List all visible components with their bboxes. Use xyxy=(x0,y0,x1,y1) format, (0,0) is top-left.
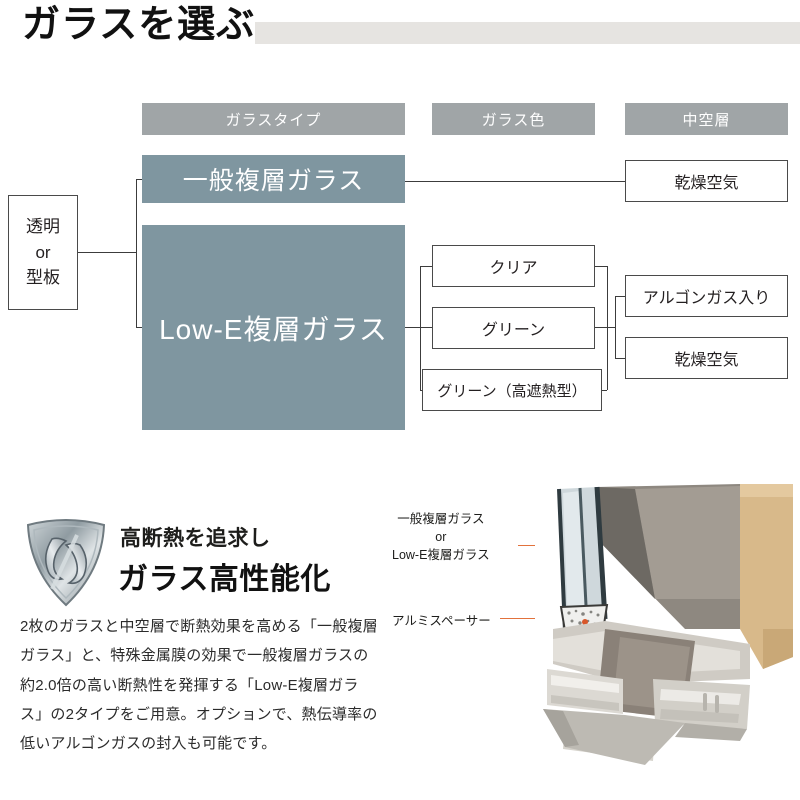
base-option-line-3: 型板 xyxy=(26,265,60,291)
connector-clear-out xyxy=(595,266,607,267)
glass-color-green[interactable]: グリーン xyxy=(432,307,595,349)
cavity-argon-gas[interactable]: アルゴンガス入り xyxy=(625,275,788,317)
connector-gas-spine xyxy=(615,296,616,358)
callout-spacer-line-1: アルミスペーサー xyxy=(392,612,491,630)
glass-color-green-shade[interactable]: グリーン（高遮熱型） xyxy=(422,369,602,411)
connector-to-argon xyxy=(615,296,625,297)
glass-type-standard[interactable]: 一般複層ガラス xyxy=(142,155,405,203)
callout-glass-line-1: 一般複層ガラス xyxy=(392,510,490,528)
glass-selection-diagram: ガラスタイプ ガラス色 中空層 透明 or 型板 一般複層ガラス Low-E複層… xyxy=(0,0,800,470)
connector-to-dryair2 xyxy=(615,358,625,359)
callout-glass-line-2: or xyxy=(392,528,490,546)
column-header-cavity-layer: 中空層 xyxy=(625,103,788,135)
base-option-line-2: or xyxy=(35,240,50,266)
base-option-line-1: 透明 xyxy=(26,214,60,240)
callout-glass-type: 一般複層ガラス or Low-E複層ガラス xyxy=(392,510,490,564)
feature-body-text: 2枚のガラスと中空層で断熱効果を高める「一般複層ガラス」と、特殊金属膜の効果で一… xyxy=(20,612,380,758)
cavity-standard-dry-air[interactable]: 乾燥空気 xyxy=(625,160,788,202)
feature-kicker: 高断熱を追求し xyxy=(120,522,271,552)
feature-section: 高断熱を追求し ガラス高性能化 2枚のガラスと中空層で断熱効果を高める「一般複層… xyxy=(0,470,800,800)
connector-green-shade-out xyxy=(602,390,607,391)
glass-type-lowe[interactable]: Low-E複層ガラス xyxy=(142,225,405,430)
connector-base-down xyxy=(136,252,137,328)
connector-color-spine xyxy=(420,266,421,390)
column-header-glass-type: ガラスタイプ xyxy=(142,103,405,135)
feature-title: ガラス高性能化 xyxy=(118,554,331,598)
base-option-box: 透明 or 型板 xyxy=(8,195,78,310)
column-header-glass-color: ガラス色 xyxy=(432,103,595,135)
callout-aluminum-spacer: アルミスペーサー xyxy=(392,612,491,630)
connector-base-up xyxy=(136,179,137,253)
connector-green-out xyxy=(595,327,607,328)
cavity-lowe-dry-air[interactable]: 乾燥空気 xyxy=(625,337,788,379)
window-frame-cross-section-photo xyxy=(535,479,800,774)
glass-color-clear[interactable]: クリア xyxy=(432,245,595,287)
connector-to-green xyxy=(420,327,432,328)
callout-glass-line-3: Low-E複層ガラス xyxy=(392,546,490,564)
connector-to-clear xyxy=(420,266,432,267)
connector-base-stem xyxy=(78,252,136,253)
shield-emblem-icon xyxy=(22,515,110,607)
connector-lowe-stem xyxy=(405,327,420,328)
connector-merge-spine xyxy=(607,266,608,390)
connector-standard-to-dryair xyxy=(405,181,625,182)
connector-merge-stem xyxy=(607,327,615,328)
